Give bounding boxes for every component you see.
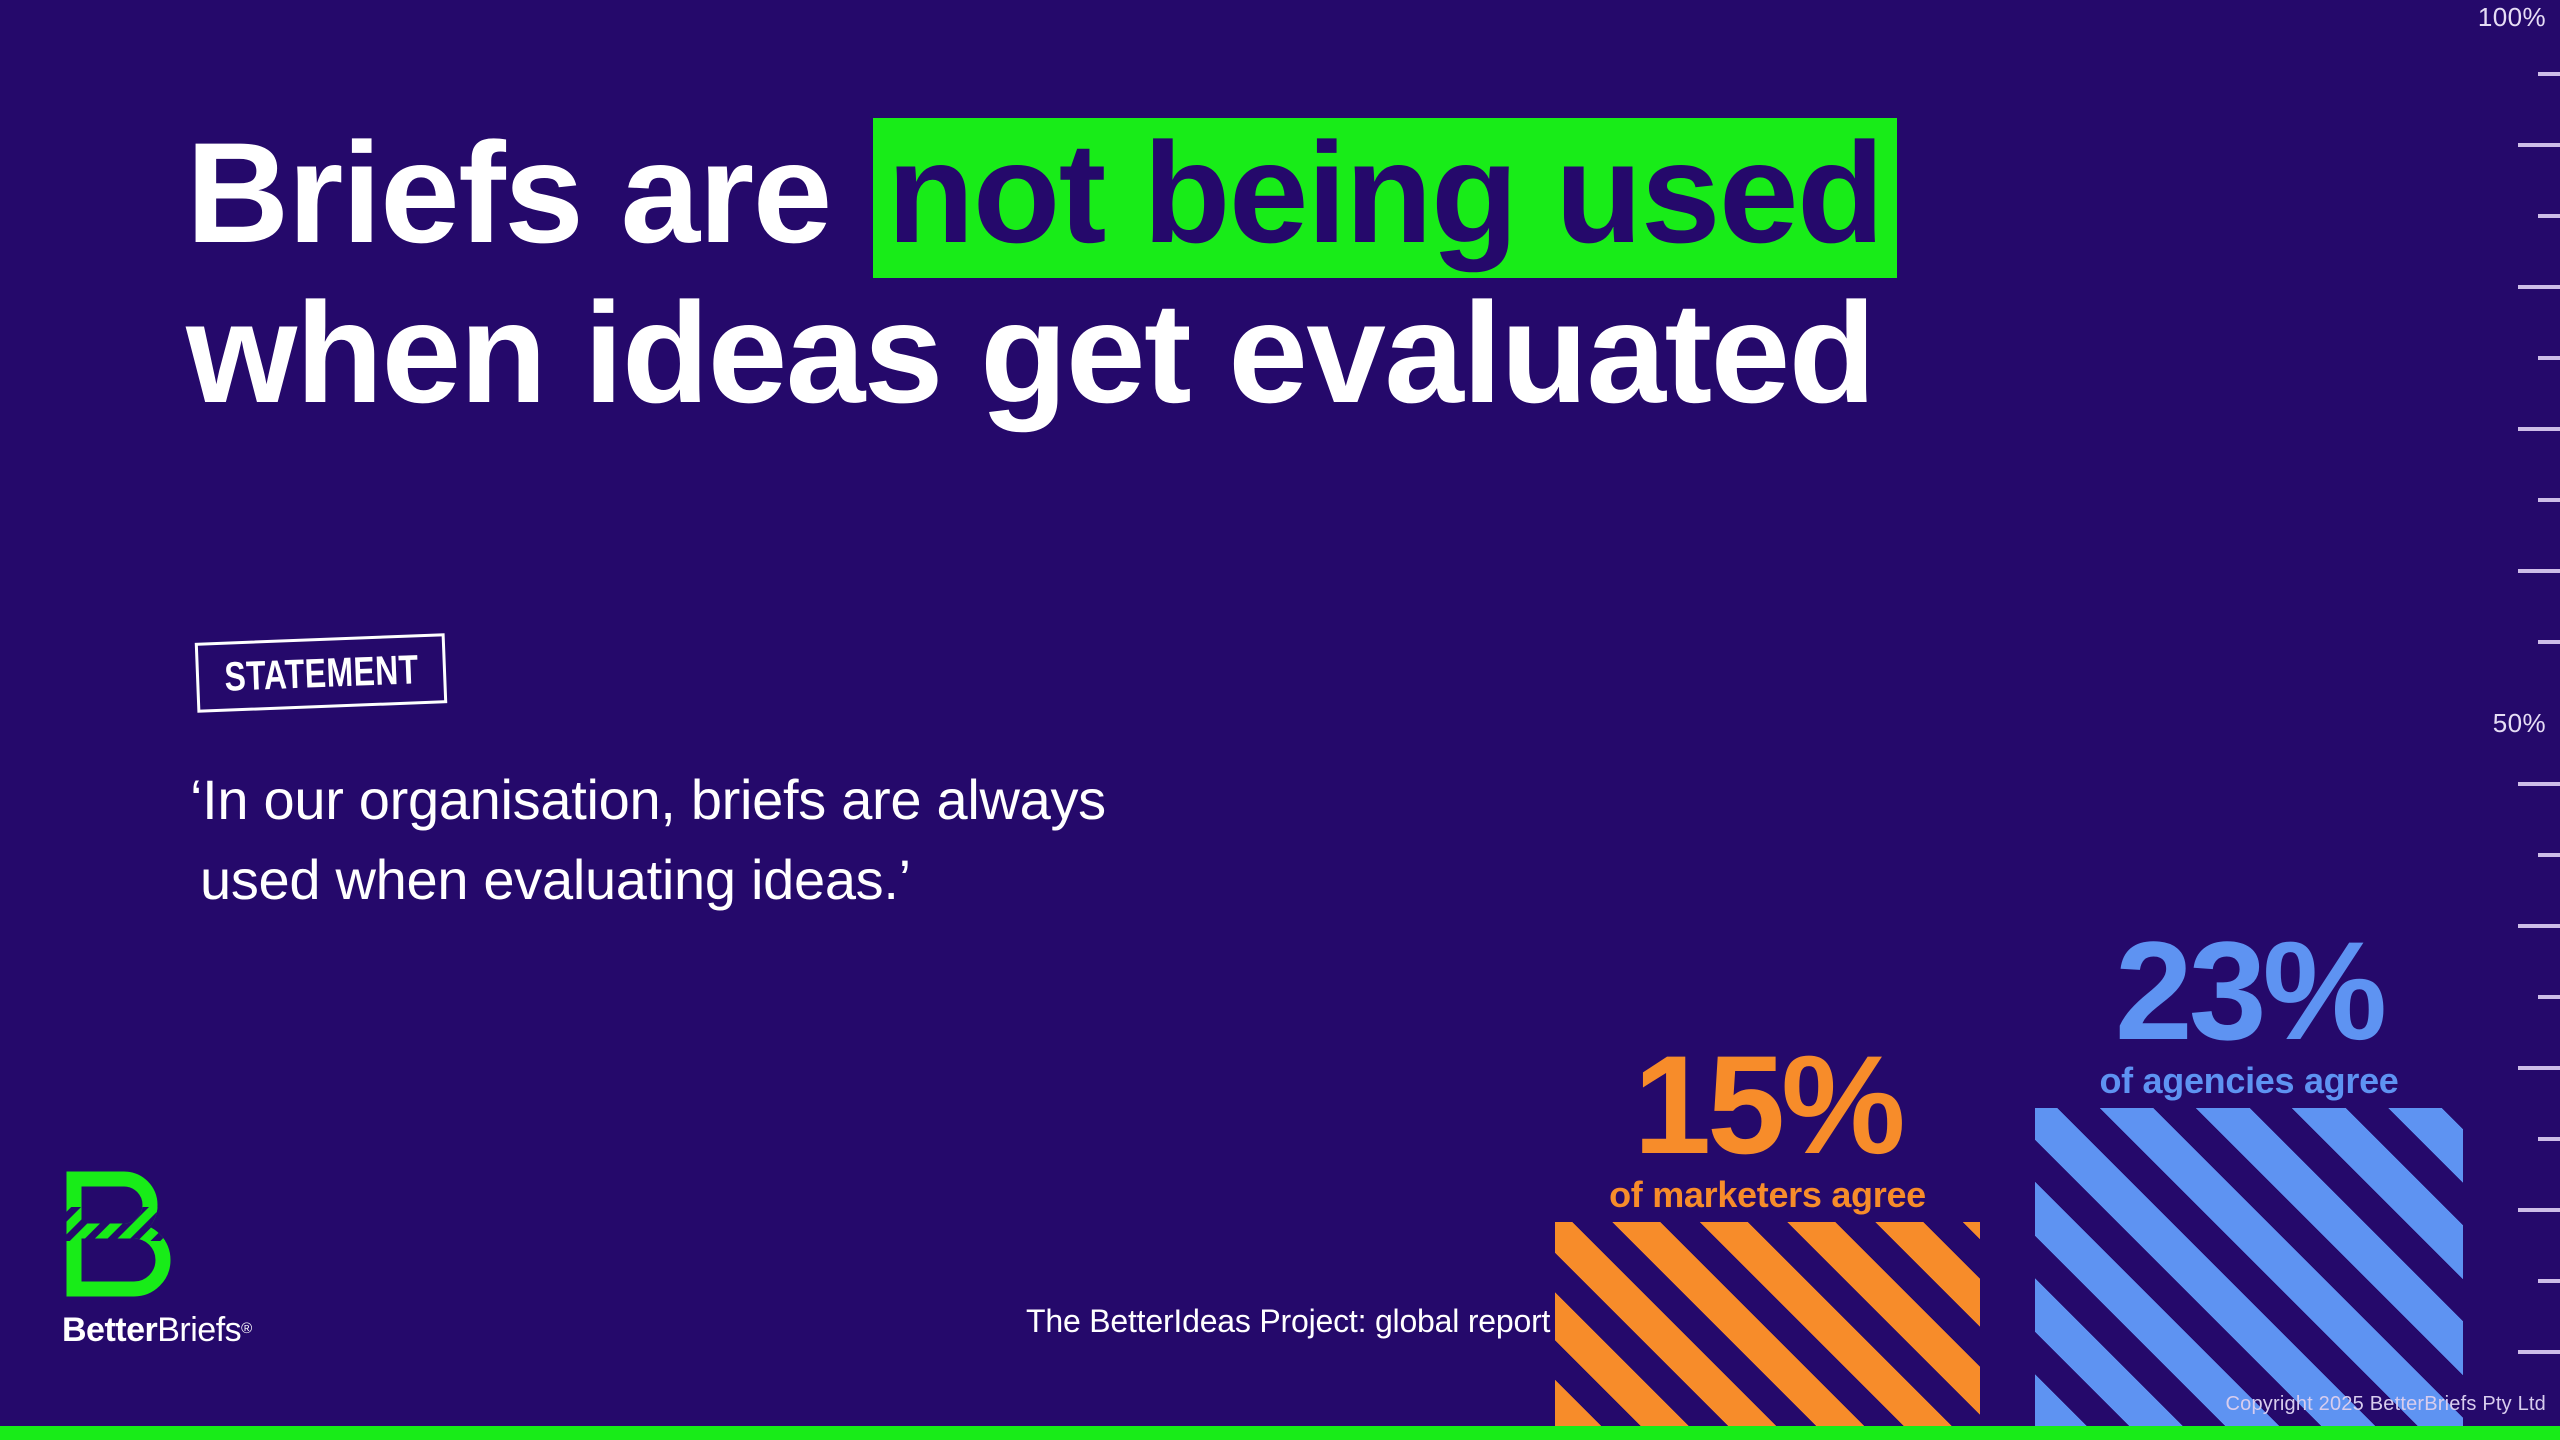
logo-wordmark-bold: Better (62, 1311, 157, 1349)
stat-marketers: 15% of marketers agree (1555, 1038, 1980, 1216)
headline-highlight: not being used (873, 118, 1897, 278)
footer-copyright: Copyright 2025 BetterBriefs Pty Ltd (2226, 1393, 2547, 1416)
quote-line-2: used when evaluating ideas.’ (190, 840, 1440, 920)
axis-tick (2538, 640, 2560, 644)
statement-badge-label-wrap: STATEMENT (195, 633, 448, 713)
page-title: Briefs are not being used when ideas get… (186, 118, 2186, 429)
axis-tick (2518, 1066, 2560, 1070)
axis-tick (2518, 924, 2560, 928)
axis-tick (2518, 782, 2560, 786)
statement-quote: ‘In our organisation, briefs are always … (190, 760, 1440, 919)
axis-tick (2538, 853, 2560, 857)
axis-tick (2518, 285, 2560, 289)
headline-line-2: when ideas get evaluated (186, 278, 2186, 430)
axis-tick (2538, 995, 2560, 999)
axis-tick (2518, 427, 2560, 431)
axis-tick (2538, 498, 2560, 502)
axis-label-50: 50% (2493, 708, 2546, 739)
logo-registered-icon: ® (241, 1320, 252, 1337)
statement-badge: STATEMENT (196, 638, 446, 708)
quote-line-1: ‘In our organisation, briefs are always (190, 760, 1440, 840)
axis-tick (2538, 72, 2560, 76)
statement-badge-label: STATEMENT (223, 646, 419, 700)
axis-label-100: 100% (2478, 2, 2546, 33)
logo-b-mark-icon (62, 1171, 174, 1299)
betterbriefs-logo: BetterBriefs® (62, 1171, 282, 1350)
headline-plain-text: Briefs are (186, 114, 831, 273)
axis-tick (2518, 569, 2560, 573)
axis-tick (2538, 1279, 2560, 1283)
stat-agencies-caption: of agencies agree (2035, 1060, 2463, 1102)
bar-marketers (1555, 1222, 1980, 1428)
axis-tick (2518, 1208, 2560, 1212)
logo-wordmark-light: Briefs (157, 1311, 241, 1349)
headline-line-1: Briefs are not being used (186, 118, 2186, 278)
bar-agencies (2035, 1108, 2463, 1428)
slide-root: Briefs are not being used when ideas get… (0, 0, 2560, 1440)
stat-marketers-caption: of marketers agree (1555, 1174, 1980, 1216)
logo-wordmark: BetterBriefs® (62, 1311, 282, 1350)
stat-marketers-value: 15% (1555, 1038, 1980, 1172)
axis-tick (2538, 1137, 2560, 1141)
axis-tick (2538, 214, 2560, 218)
stat-agencies-value: 23% (2035, 924, 2463, 1058)
axis-tick (2538, 356, 2560, 360)
chart-y-axis: 100% 50% (2480, 0, 2560, 1428)
footer-report-title: The BetterIdeas Project: global report (1026, 1303, 1550, 1340)
stat-agencies: 23% of agencies agree (2035, 924, 2463, 1102)
bottom-accent-bar (0, 1426, 2560, 1440)
axis-tick (2518, 1350, 2560, 1354)
axis-tick (2518, 143, 2560, 147)
